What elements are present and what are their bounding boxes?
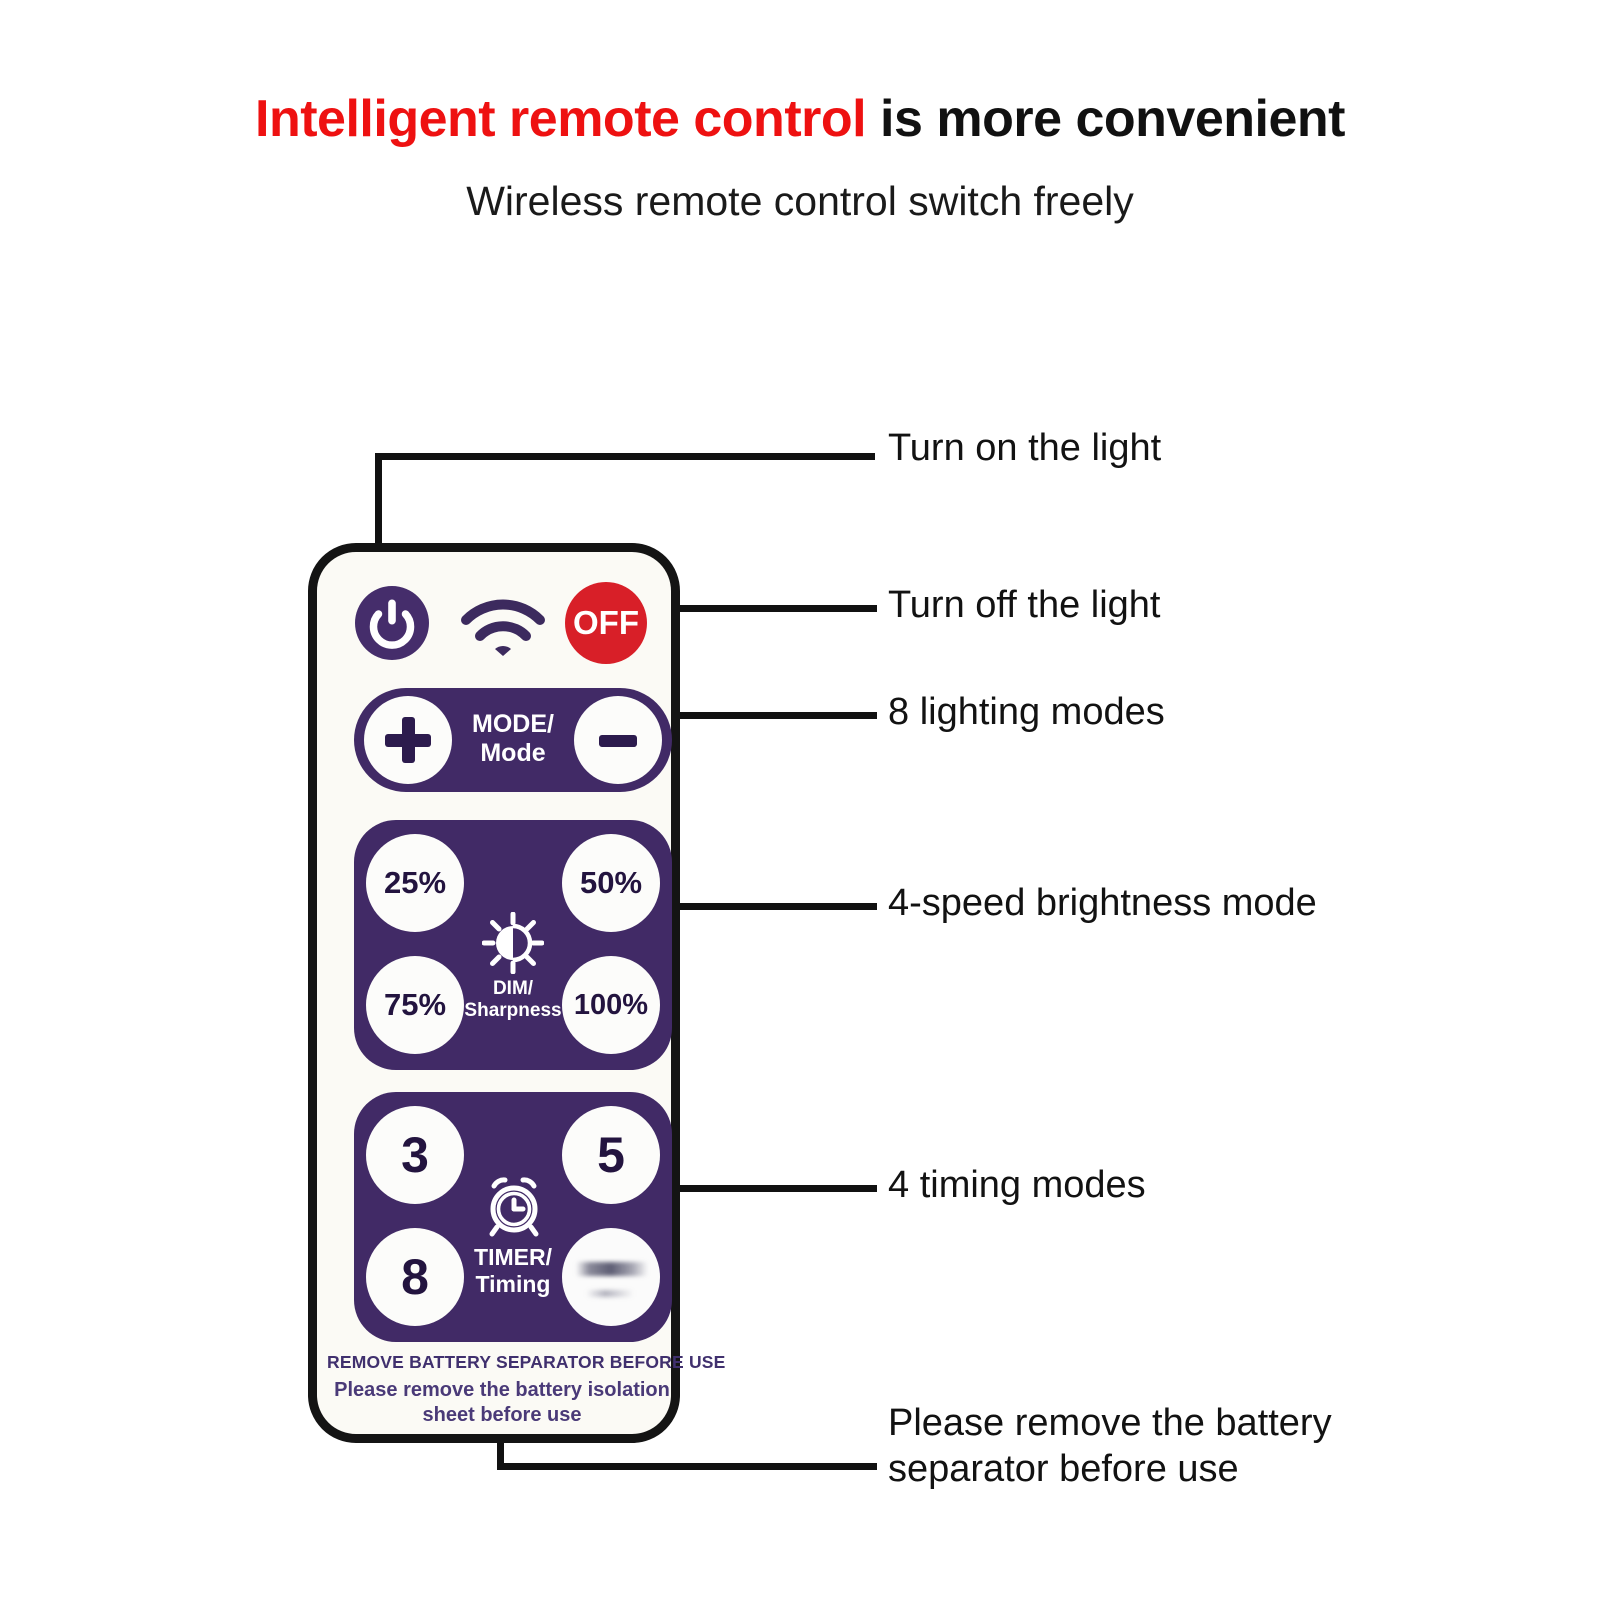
- remote-control-body: OFF MODE/ Mode 25% 50% 75% 100%: [308, 543, 680, 1443]
- callout-timing-modes: 4 timing modes: [888, 1162, 1146, 1208]
- callout-turn-off: Turn off the light: [888, 582, 1161, 628]
- infographic-page: Intelligent remote control is more conve…: [0, 0, 1600, 1600]
- alarm-clock-icon: [484, 1176, 544, 1238]
- brightness-button-25[interactable]: 25%: [366, 834, 464, 932]
- heading-block: Intelligent remote control is more conve…: [0, 92, 1600, 147]
- mode-plus-button[interactable]: [364, 696, 452, 784]
- mode-panel-label: MODE/ Mode: [452, 710, 574, 768]
- minus-icon: [595, 717, 641, 763]
- timer-panel: 3 5 8 TIMER/ Timing: [354, 1092, 672, 1342]
- page-title: Intelligent remote control is more conve…: [0, 92, 1600, 147]
- timer-button-5[interactable]: 5: [562, 1106, 660, 1204]
- mode-minus-button[interactable]: [574, 696, 662, 784]
- brightness-sun-icon: [482, 912, 544, 974]
- callout-battery-separator: Please remove the battery separator befo…: [888, 1400, 1332, 1493]
- page-subtitle: Wireless remote control switch freely: [0, 178, 1600, 225]
- remote-top-row: OFF: [317, 576, 671, 666]
- brightness-button-75[interactable]: 75%: [366, 956, 464, 1054]
- callout-lighting-modes: 8 lighting modes: [888, 689, 1165, 735]
- page-title-highlight: Intelligent remote control: [255, 90, 866, 148]
- mode-panel: MODE/ Mode: [354, 688, 672, 792]
- blurred-label-smudge-secondary: [586, 1290, 634, 1297]
- brightness-button-100[interactable]: 100%: [562, 956, 660, 1054]
- timer-button-3[interactable]: 3: [366, 1106, 464, 1204]
- brightness-button-50[interactable]: 50%: [562, 834, 660, 932]
- leader-battery-horizontal: [497, 1463, 877, 1470]
- leader-turn-on-vertical: [375, 453, 382, 549]
- callout-brightness-mode: 4-speed brightness mode: [888, 880, 1317, 926]
- power-icon[interactable]: [355, 586, 429, 660]
- timer-button-blurred[interactable]: [562, 1228, 660, 1326]
- brightness-panel-label: DIM/ Sharpness: [458, 978, 568, 1022]
- wifi-icon: [460, 598, 546, 658]
- battery-note-subtitle: Please remove the battery isolation shee…: [327, 1378, 677, 1428]
- brightness-panel: 25% 50% 75% 100% DIM/ Sharpness: [354, 820, 672, 1070]
- off-button[interactable]: OFF: [565, 582, 647, 664]
- blurred-label-smudge: [576, 1262, 648, 1276]
- timer-button-8[interactable]: 8: [366, 1228, 464, 1326]
- page-title-rest: is more convenient: [866, 90, 1345, 148]
- timer-panel-label: TIMER/ Timing: [454, 1244, 572, 1297]
- leader-turn-on-horizontal: [375, 453, 875, 460]
- remote-battery-note: REMOVE BATTERY SEPARATOR BEFORE USE Plea…: [327, 1352, 677, 1428]
- plus-icon: [385, 717, 431, 763]
- callout-turn-on: Turn on the light: [888, 425, 1161, 471]
- battery-note-title: REMOVE BATTERY SEPARATOR BEFORE USE: [327, 1352, 677, 1373]
